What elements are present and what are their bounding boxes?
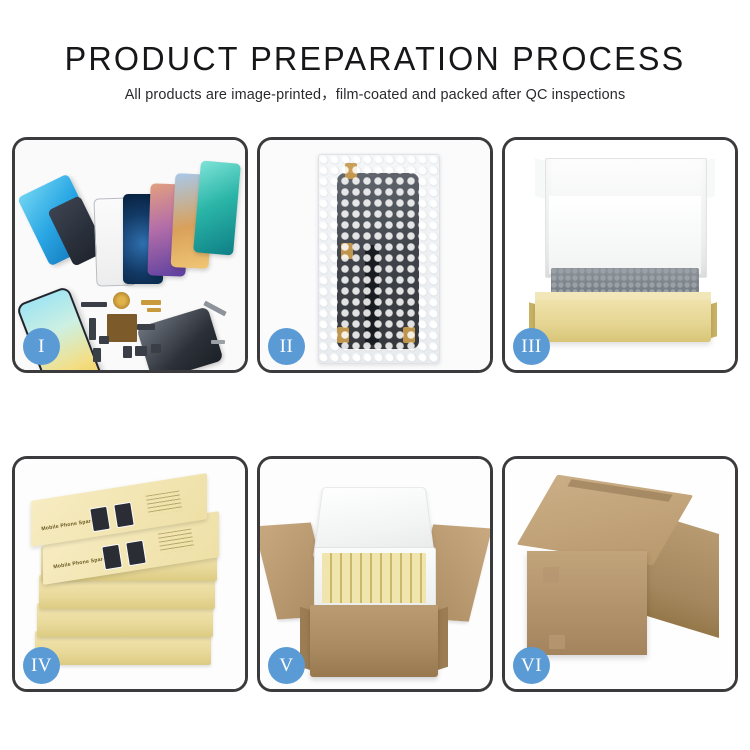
step-badge-6: VI: [513, 647, 550, 684]
part-connector: [137, 324, 155, 330]
process-step-panel-5[interactable]: V: [257, 456, 493, 692]
box-base-yellow: [535, 300, 711, 342]
box-window-second-a: [101, 544, 123, 571]
screen-flex-cable: [365, 245, 379, 345]
tape-tab-top: [345, 163, 357, 179]
part-bracket: [81, 302, 107, 307]
process-steps-grid: I II: [12, 137, 738, 692]
phone-teal-swirl: [193, 160, 241, 255]
step-badge-1: I: [23, 328, 60, 365]
carton-tape-upper: [543, 567, 559, 583]
boxed-parts-rows: [322, 553, 426, 603]
header: PRODUCT PREPARATION PROCESS All products…: [0, 0, 750, 102]
step-badge-3: III: [513, 328, 550, 365]
bubble-wrap-bag: [318, 154, 440, 364]
box-window-top-a: [89, 506, 111, 533]
box-window-top-b: [113, 502, 135, 529]
part-vibrator: [135, 346, 147, 356]
process-step-panel-2[interactable]: II: [257, 137, 493, 373]
step-badge-2: II: [268, 328, 305, 365]
page-title: PRODUCT PREPARATION PROCESS: [8, 42, 743, 75]
page-subtitle: All products are image-printed，film-coat…: [0, 88, 750, 102]
part-cable-1: [89, 318, 96, 340]
part-button: [123, 346, 132, 358]
tape-tab-mid: [341, 243, 353, 259]
step-badge-5: V: [268, 647, 305, 684]
part-flex-gold: [141, 300, 161, 305]
carton-body-front: [310, 605, 438, 677]
process-step-panel-4[interactable]: Mobile Phone Spare Parts Mobile Phone Sp…: [12, 456, 248, 692]
process-step-panel-3[interactable]: III: [502, 137, 738, 373]
foam-liner: [549, 196, 701, 274]
tape-tab-lower-right: [403, 327, 415, 343]
tape-tab-lower-left: [337, 327, 349, 343]
box-window-second-b: [125, 540, 147, 567]
box-stack: Mobile Phone Spare Parts Mobile Phone Sp…: [27, 481, 235, 673]
part-sim-tray: [93, 348, 101, 362]
part-screw-pack: [151, 344, 161, 353]
process-step-panel-6[interactable]: VI: [502, 456, 738, 692]
step-badge-4: IV: [23, 647, 60, 684]
part-speaker-coil: [113, 292, 130, 309]
process-step-panel-1[interactable]: I: [12, 137, 248, 373]
part-flex-gold-2: [147, 308, 161, 312]
carton-tape-lower: [549, 635, 565, 649]
part-camera: [99, 336, 109, 344]
part-chip-grid: [107, 314, 137, 342]
tool-pry: [211, 340, 225, 344]
